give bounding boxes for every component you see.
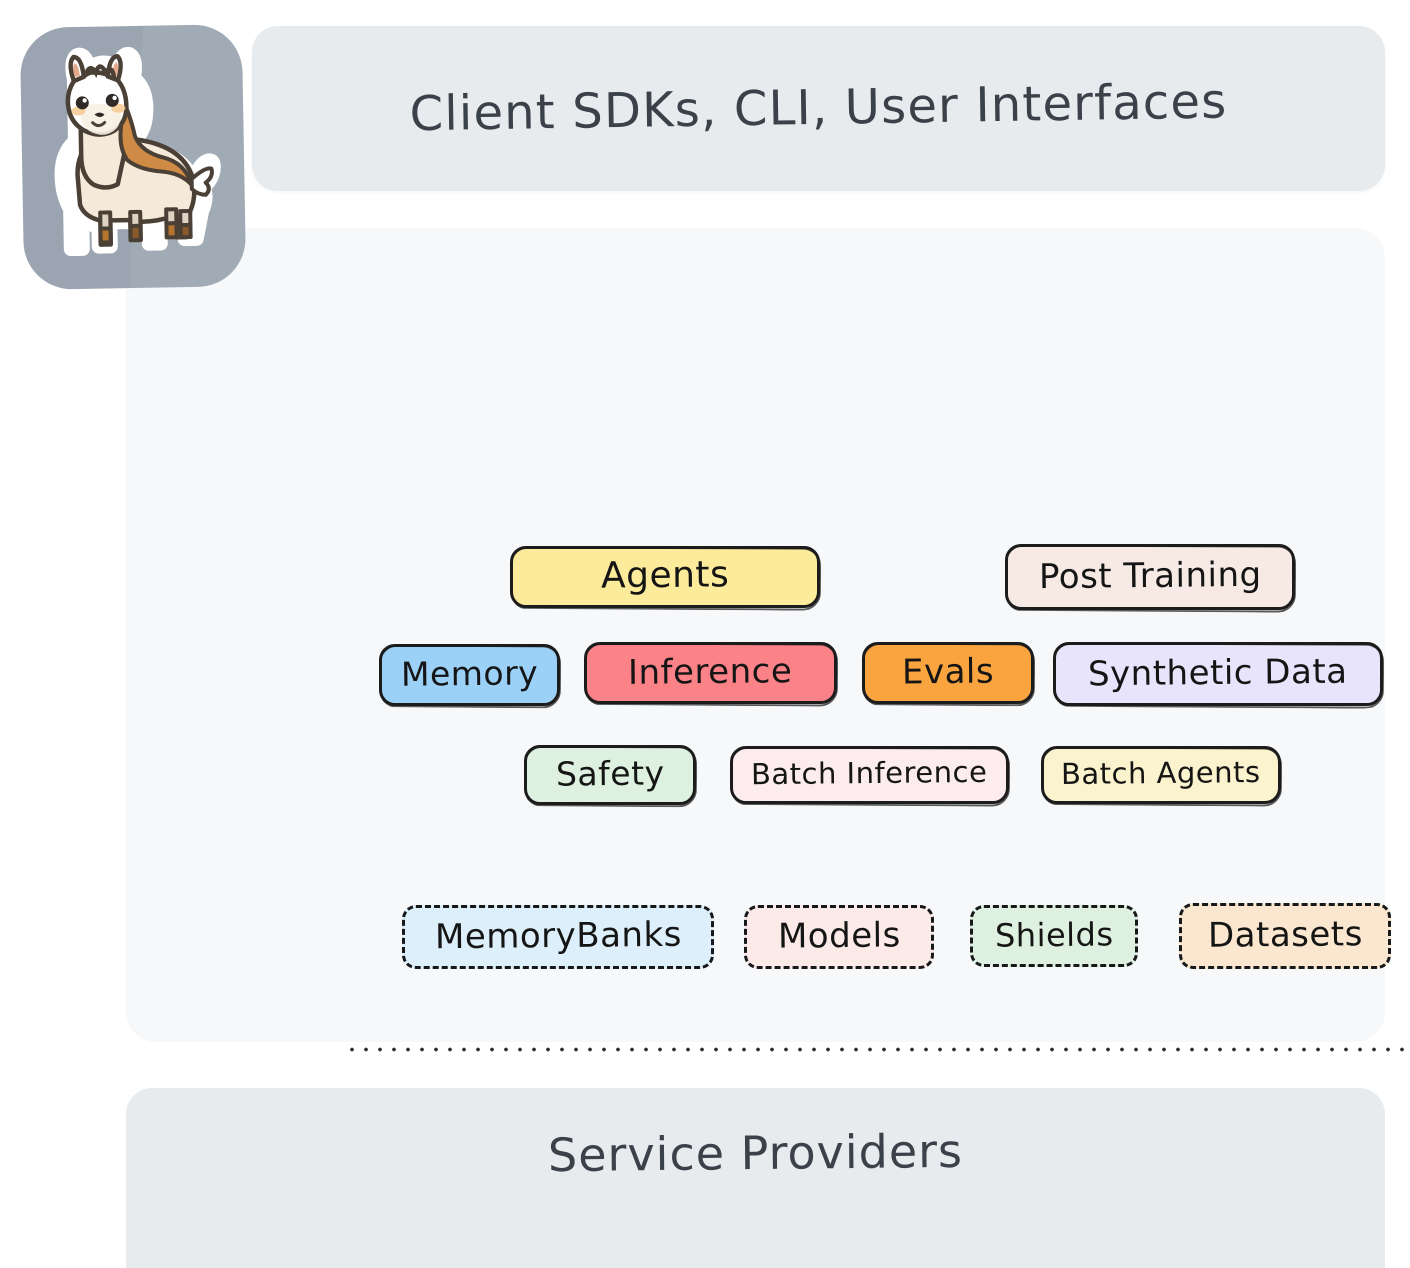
api-box-safety[interactable]: Safety	[524, 745, 696, 805]
service-providers-bar: Service Providers	[126, 1088, 1385, 1268]
api-box-batch-inference[interactable]: Batch Inference	[730, 746, 1009, 804]
api-box-post-training[interactable]: Post Training	[1005, 544, 1295, 610]
api-box-batch-agents[interactable]: Batch Agents	[1041, 746, 1281, 804]
resource-label: Datasets	[1207, 917, 1362, 956]
api-label: Batch Inference	[751, 758, 988, 792]
api-label: Agents	[601, 557, 730, 597]
llama-stack-panel: AgentsPost TrainingMemoryInferenceEvalsS…	[126, 228, 1385, 1042]
resource-box-models[interactable]: Models	[744, 905, 934, 969]
client-layer-bar: Client SDKs, CLI, User Interfaces	[252, 26, 1385, 191]
llama-icon	[33, 42, 225, 271]
api-label: Evals	[902, 654, 994, 692]
resource-label: MemoryBanks	[434, 917, 681, 957]
resource-box-memorybanks[interactable]: MemoryBanks	[402, 905, 714, 969]
page-title: Client SDKs, CLI, User Interfaces	[252, 70, 1386, 144]
resource-box-datasets[interactable]: Datasets	[1179, 903, 1391, 969]
api-box-synthetic-data[interactable]: Synthetic Data	[1053, 642, 1383, 706]
api-label: Inference	[628, 654, 793, 693]
api-box-inference[interactable]: Inference	[584, 642, 837, 704]
api-label: Post Training	[1038, 557, 1261, 596]
api-box-evals[interactable]: Evals	[862, 642, 1034, 704]
resource-box-shields[interactable]: Shields	[970, 905, 1138, 967]
llama-logo-badge	[20, 24, 247, 290]
api-box-agents[interactable]: Agents	[510, 546, 820, 608]
resource-label: Shields	[995, 918, 1114, 954]
resource-label: Models	[777, 918, 900, 956]
service-providers-title: Service Providers	[126, 1119, 1385, 1186]
api-label: Batch Agents	[1061, 758, 1261, 792]
api-box-memory[interactable]: Memory	[379, 644, 560, 706]
api-label: Memory	[401, 656, 539, 693]
api-label: Synthetic Data	[1088, 654, 1348, 694]
api-label: Safety	[556, 756, 665, 793]
dotted-divider	[345, 1047, 1410, 1052]
